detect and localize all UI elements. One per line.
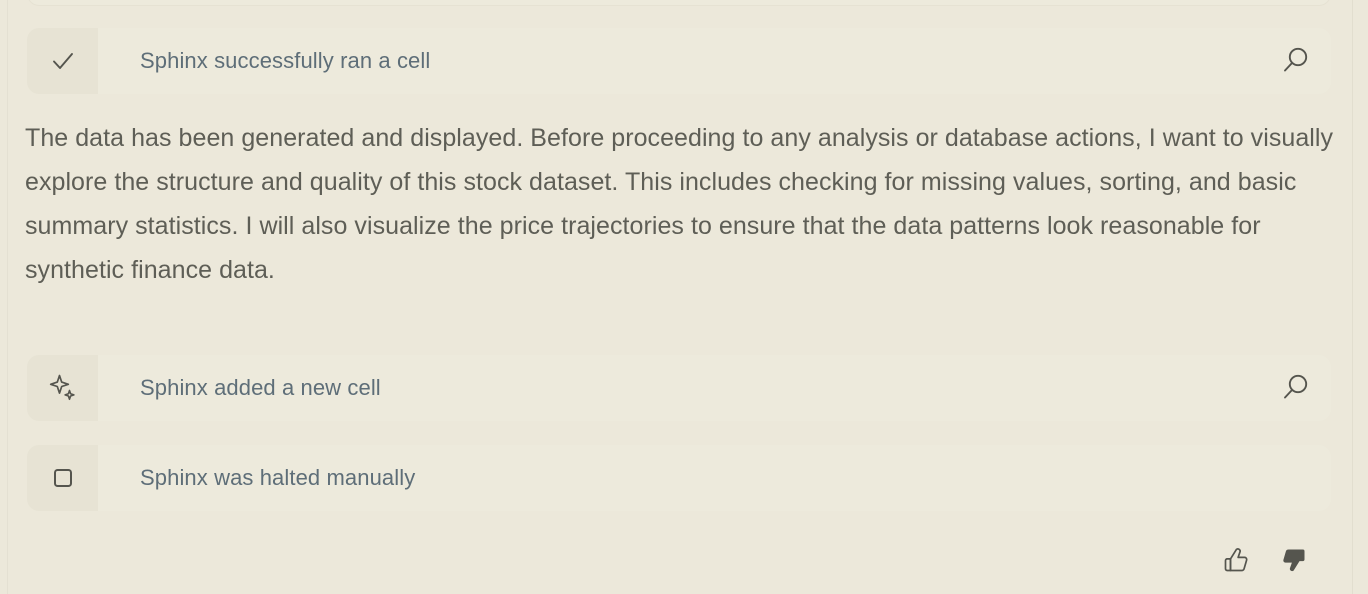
thumbs-down-icon — [1280, 546, 1308, 574]
activity-row-gutter — [27, 28, 98, 94]
activity-row-added-cell[interactable]: Sphinx added a new cell — [27, 355, 1331, 421]
sparkle-icon — [47, 372, 79, 404]
inspect-button-added-cell[interactable] — [1259, 355, 1331, 421]
activity-row-ran-cell[interactable]: Sphinx successfully ran a cell — [27, 28, 1331, 94]
activity-row-label: Sphinx was halted manually — [98, 465, 1259, 491]
activity-row-label: Sphinx added a new cell — [98, 375, 1259, 401]
pane-left-rail — [7, 0, 8, 594]
search-icon — [1278, 371, 1312, 405]
activity-row-gutter — [27, 355, 98, 421]
search-icon — [1278, 44, 1312, 78]
pane-right-rail — [1352, 0, 1353, 594]
check-icon — [48, 46, 78, 76]
feedback-controls — [1220, 540, 1330, 580]
inspect-button-ran-cell[interactable] — [1259, 28, 1331, 94]
stop-square-icon — [48, 463, 78, 493]
conversation-pane: Sphinx successfully ran a cell The data … — [0, 0, 1368, 594]
thumbs-up-button[interactable] — [1220, 544, 1252, 576]
previous-card-clipped — [27, 0, 1331, 6]
thumbs-down-button[interactable] — [1278, 544, 1310, 576]
activity-row-label: Sphinx successfully ran a cell — [98, 48, 1259, 74]
thumbs-up-icon — [1222, 546, 1250, 574]
assistant-message: The data has been generated and displaye… — [25, 116, 1335, 292]
activity-row-halted[interactable]: Sphinx was halted manually — [27, 445, 1331, 511]
activity-row-gutter — [27, 445, 98, 511]
